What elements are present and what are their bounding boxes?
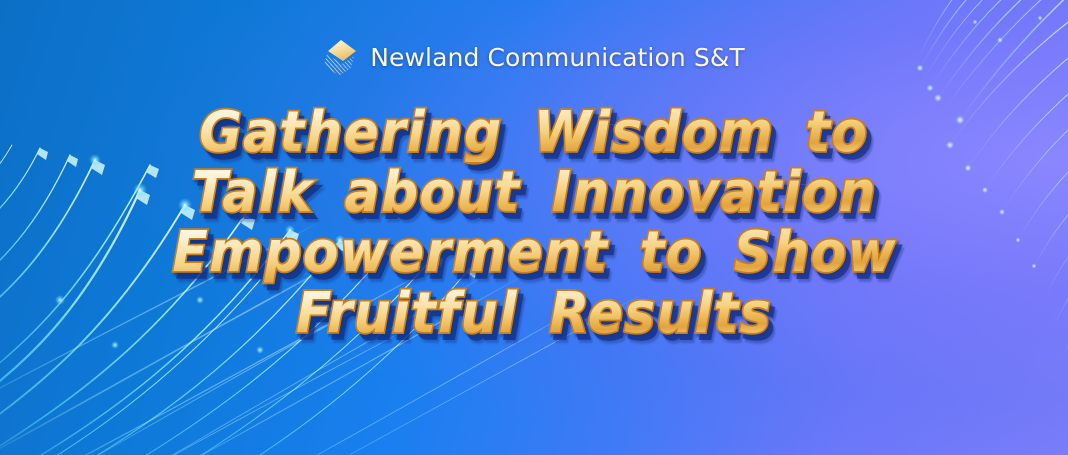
- event-banner: Newland Communication S&T Gathering Wisd…: [0, 0, 1068, 455]
- brand-lockup: Newland Communication S&T: [0, 36, 1068, 78]
- headline-line-2: Talk about Innovation Talk about Innovat…: [191, 164, 876, 222]
- headline-line-2-face: Talk about Innovation: [191, 164, 876, 222]
- headline-line-3: Empowerment to Show Empowerment to Show: [172, 224, 896, 282]
- headline-line-4-face: Fruitful Results: [296, 285, 772, 343]
- headline-block: Gathering Wisdom to Gathering Wisdom to …: [0, 104, 1068, 343]
- newland-diamond-logo-icon: [323, 38, 359, 78]
- headline-line-3-face: Empowerment to Show: [172, 224, 896, 282]
- headline-line-1-face: Gathering Wisdom to: [199, 104, 868, 162]
- headline-line-4: Fruitful Results Fruitful Results: [296, 285, 772, 343]
- brand-name: Newland Communication S&T: [370, 43, 745, 72]
- headline-line-1: Gathering Wisdom to Gathering Wisdom to: [199, 104, 868, 162]
